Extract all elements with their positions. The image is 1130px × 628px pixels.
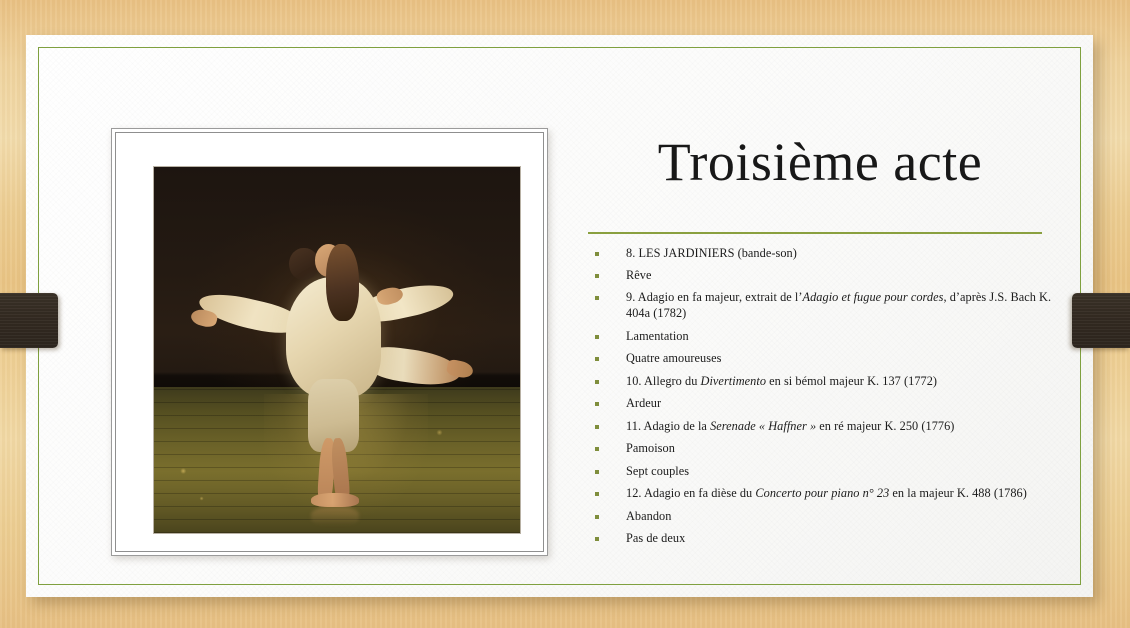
list-item-title-italic: Adagio et fugue pour cordes xyxy=(803,290,944,304)
list-item-label: Pas de deux xyxy=(626,531,685,545)
list-item-label: Rêve xyxy=(626,268,651,282)
list-item-title-italic: Divertimento xyxy=(701,374,766,388)
list-item-label: Sept couples xyxy=(626,464,689,478)
list-item-label: Abandon xyxy=(626,509,671,523)
list-item: 8. LES JARDINIERS (bande-son) xyxy=(588,246,1052,262)
list-item-label: Pamoison xyxy=(626,441,675,455)
list-item: Pas de deux xyxy=(588,531,1052,547)
slide-content-column: Troisième acte 8. LES JARDINIERS (bande-… xyxy=(582,135,1052,554)
list-item: Abandon xyxy=(588,509,1052,525)
list-item: 11. Adagio de la Serenade « Haffner » en… xyxy=(588,419,1052,435)
dancer-feet-reflection xyxy=(311,507,359,525)
list-item: Pamoison xyxy=(588,441,1052,457)
dance-photograph xyxy=(153,166,521,534)
list-item-label: 12. Adagio en fa dièse du xyxy=(626,486,755,500)
photo-frame xyxy=(111,128,548,556)
list-item: Sept couples xyxy=(588,464,1052,480)
list-item-label: 10. Allegro du xyxy=(626,374,701,388)
ribbon-band-right xyxy=(1072,293,1130,348)
presentation-slide: Troisième acte 8. LES JARDINIERS (bande-… xyxy=(26,35,1093,597)
list-item: Quatre amoureuses xyxy=(588,351,1052,367)
photo-mat xyxy=(119,136,540,548)
list-item-title-italic: Concerto pour piano n° 23 xyxy=(755,486,889,500)
list-item: 10. Allegro du Divertimento en si bémol … xyxy=(588,374,1052,390)
list-item-label-tail: en si bémol majeur K. 137 (1772) xyxy=(766,374,937,388)
title-divider xyxy=(588,232,1042,234)
list-item-label: 9. Adagio en fa majeur, extrait de l’ xyxy=(626,290,803,304)
list-item-label: 11. Adagio de la xyxy=(626,419,710,433)
program-list: 8. LES JARDINIERS (bande-son)Rêve9. Adag… xyxy=(582,246,1052,548)
page-title: Troisième acte xyxy=(582,135,1052,189)
list-item-label: 8. LES JARDINIERS (bande-son) xyxy=(626,246,797,260)
list-item-label: Ardeur xyxy=(626,396,661,410)
dancer-feet xyxy=(311,493,359,508)
dancer-hair xyxy=(326,244,359,321)
list-item-label: Quatre amoureuses xyxy=(626,351,721,365)
list-item: Ardeur xyxy=(588,396,1052,412)
list-item-label-tail: en ré majeur K. 250 (1776) xyxy=(816,419,954,433)
list-item: 9. Adagio en fa majeur, extrait de l’Ada… xyxy=(588,290,1052,322)
list-item-title-italic: Serenade « Haffner » xyxy=(710,419,816,433)
list-item-label: Lamentation xyxy=(626,329,689,343)
list-item: Lamentation xyxy=(588,329,1052,345)
list-item: Rêve xyxy=(588,268,1052,284)
list-item: 12. Adagio en fa dièse du Concerto pour … xyxy=(588,486,1052,502)
ribbon-band-left xyxy=(0,293,58,348)
list-item-label-tail: en la majeur K. 488 (1786) xyxy=(889,486,1027,500)
